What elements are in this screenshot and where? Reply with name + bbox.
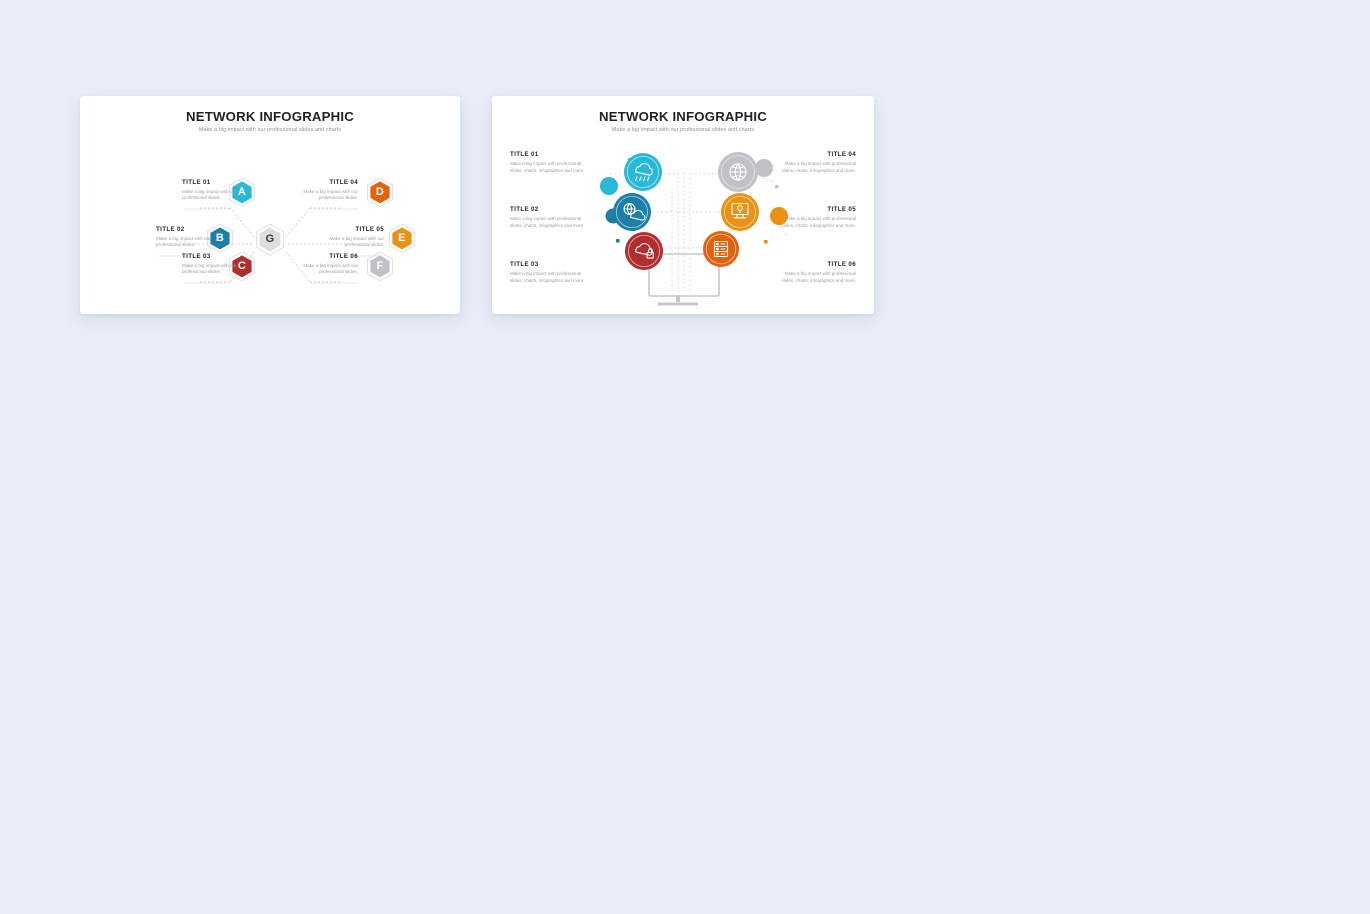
hexagon-f[interactable] xyxy=(368,252,393,281)
title-text: TITLE 03 xyxy=(182,253,254,260)
rlabel-title-05[interactable]: TITLE 05 Make a big impact with professi… xyxy=(778,206,856,230)
title-text: TITLE 01 xyxy=(510,151,588,158)
desc-text: Make a big impact with professional slid… xyxy=(778,216,856,230)
desc-text: Make a big impact with professional slid… xyxy=(510,161,588,175)
connector-a xyxy=(230,208,254,237)
label-title-06[interactable]: TITLE 06 Make a big impact with our prof… xyxy=(286,253,358,276)
label-title-04[interactable]: TITLE 04 Make a big impact with our prof… xyxy=(286,179,358,202)
icon-circle-04[interactable] xyxy=(718,152,758,192)
title-text: TITLE 02 xyxy=(510,206,588,213)
title-text: TITLE 06 xyxy=(778,261,856,268)
label-title-01[interactable]: TITLE 01 Make a big impact with our prof… xyxy=(182,179,254,202)
desc-text: Make a big impact with our professional … xyxy=(286,189,358,203)
rlabel-title-03[interactable]: TITLE 03 Make a big impact with professi… xyxy=(510,261,588,285)
desc-text: Make a big impact with our professional … xyxy=(312,236,384,250)
label-title-05[interactable]: TITLE 05 Make a big impact with our prof… xyxy=(312,226,384,249)
desc-text: Make a big impact with our professional … xyxy=(182,189,254,203)
desc-text: Make a big impact with our professional … xyxy=(156,236,228,250)
icon-circle-06[interactable] xyxy=(703,231,739,267)
hexagon-d[interactable] xyxy=(368,178,393,207)
connector-d xyxy=(286,208,310,237)
label-title-02[interactable]: TITLE 02 Make a big impact with our prof… xyxy=(156,226,228,249)
desc-text: Make a big impact with our professional … xyxy=(286,263,358,277)
circle-network-card[interactable]: NETWORK INFOGRAPHIC Make a big impact wi… xyxy=(492,96,874,314)
desc-text: Make a big impact with professional slid… xyxy=(510,216,588,230)
hexagon-diagram xyxy=(80,96,460,314)
dashed-connectors xyxy=(608,172,792,292)
desc-text: Make a big impact with professional slid… xyxy=(778,161,856,175)
title-text: TITLE 02 xyxy=(156,226,228,233)
dot-blue-square xyxy=(616,239,620,243)
desc-text: Make a big impact with professional slid… xyxy=(778,271,856,285)
hexagon-e[interactable] xyxy=(390,224,415,253)
rlabel-title-02[interactable]: TITLE 02 Make a big impact with professi… xyxy=(510,206,588,230)
dot-cyan-large xyxy=(600,177,618,195)
desc-text: Make a big impact with professional slid… xyxy=(510,271,588,285)
title-text: TITLE 03 xyxy=(510,261,588,268)
dot-orange-square xyxy=(764,240,768,244)
title-text: TITLE 05 xyxy=(778,206,856,213)
rlabel-title-04[interactable]: TITLE 04 Make a big impact with professi… xyxy=(778,151,856,175)
title-text: TITLE 06 xyxy=(286,253,358,260)
rlabel-title-06[interactable]: TITLE 06 Make a big impact with professi… xyxy=(778,261,856,285)
label-title-03[interactable]: TITLE 03 Make a big impact with our prof… xyxy=(182,253,254,276)
dot-grey-square xyxy=(775,185,778,188)
icon-circle-03[interactable] xyxy=(625,232,663,270)
desc-text: Make a big impact with our professional … xyxy=(182,263,254,277)
hexagon-network-card[interactable]: NETWORK INFOGRAPHIC Make a big impact wi… xyxy=(80,96,460,314)
hexagon-g-center[interactable] xyxy=(257,224,284,255)
rlabel-title-01[interactable]: TITLE 01 Make a big impact with professi… xyxy=(510,151,588,175)
title-text: TITLE 05 xyxy=(312,226,384,233)
icon-circle-05[interactable] xyxy=(721,193,759,231)
icon-circle-02[interactable] xyxy=(613,193,651,231)
icon-circle-01[interactable] xyxy=(624,153,662,191)
screenshot-stage: NETWORK INFOGRAPHIC Make a big impact wi… xyxy=(0,0,1370,914)
title-text: TITLE 04 xyxy=(778,151,856,158)
title-text: TITLE 01 xyxy=(182,179,254,186)
title-text: TITLE 04 xyxy=(286,179,358,186)
